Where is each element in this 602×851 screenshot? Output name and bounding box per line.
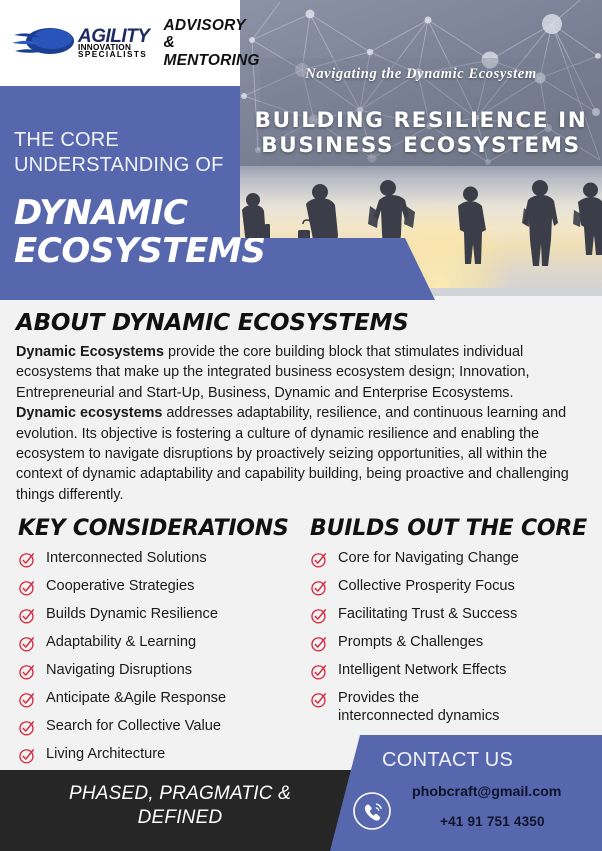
list-item-label: Adaptability & Learning xyxy=(46,634,196,650)
check-circle-icon xyxy=(310,691,328,709)
title-panel-title: DYNAMIC ECOSYSTEMS xyxy=(14,194,274,270)
list-item-label: Cooperative Strategies xyxy=(46,578,194,594)
list-item[interactable]: Navigating Disruptions xyxy=(18,662,302,681)
list-item[interactable]: Interconnected Solutions xyxy=(18,550,302,569)
check-circle-icon xyxy=(18,719,36,737)
check-circle-icon xyxy=(18,691,36,709)
list-item[interactable]: Builds Dynamic Resilience xyxy=(18,606,302,625)
list-item[interactable]: Facilitating Trust & Success xyxy=(310,606,602,625)
key-considerations-list: Interconnected Solutions Cooperative Str… xyxy=(18,550,302,765)
list-item[interactable]: Cooperative Strategies xyxy=(18,578,302,597)
check-circle-icon xyxy=(310,635,328,653)
hero-kicker: Navigating the Dynamic Ecosystem xyxy=(240,66,602,83)
list-item-label: Anticipate &Agile Response xyxy=(46,690,226,706)
phone-call-icon xyxy=(352,791,392,831)
list-item-label: Collective Prosperity Focus xyxy=(338,578,515,594)
logo-line3: SPECIALISTS xyxy=(78,51,149,59)
agility-swoosh-icon xyxy=(12,23,76,63)
brand-tagline: ADVISORY & MENTORING xyxy=(163,17,259,69)
list-item[interactable]: Provides the interconnected dynamics xyxy=(310,690,602,725)
about-body: Dynamic Ecosystems provide the core buil… xyxy=(16,342,586,505)
logo[interactable]: AGILITY INNOVATION SPECIALISTS ADVISORY … xyxy=(0,17,260,69)
hero-title: BUILDING RESILIENCE IN BUSINESS ECOSYSTE… xyxy=(240,108,602,159)
list-item[interactable]: Living Architecture xyxy=(18,746,302,765)
list-item-label: Provides the interconnected dynamics xyxy=(338,690,499,725)
check-circle-icon xyxy=(310,551,328,569)
about-section: ABOUT DYNAMIC ECOSYSTEMS Dynamic Ecosyst… xyxy=(0,302,602,505)
list-item-label: Navigating Disruptions xyxy=(46,662,192,678)
check-circle-icon xyxy=(18,635,36,653)
contact-email[interactable]: phobcraft@gmail.com xyxy=(412,784,561,800)
check-circle-icon xyxy=(18,747,36,765)
about-para1-lead: Dynamic Ecosystems xyxy=(16,344,164,360)
check-circle-icon xyxy=(18,607,36,625)
list-item[interactable]: Intelligent Network Effects xyxy=(310,662,602,681)
contact-panel: CONTACT US phobcraft@gmail.com +41 91 75… xyxy=(330,735,602,851)
list-item[interactable]: Search for Collective Value xyxy=(18,718,302,737)
list-item-label: Intelligent Network Effects xyxy=(338,662,506,678)
check-circle-icon xyxy=(310,579,328,597)
builds-out-core-heading: BUILDS OUT THE CORE xyxy=(310,516,602,541)
list-item[interactable]: Anticipate &Agile Response xyxy=(18,690,302,709)
list-item[interactable]: Prompts & Challenges xyxy=(310,634,602,653)
brand-header: AGILITY INNOVATION SPECIALISTS ADVISORY … xyxy=(0,0,240,86)
list-item[interactable]: Core for Navigating Change xyxy=(310,550,602,569)
list-item-label: Core for Navigating Change xyxy=(338,550,519,566)
footer-tagline: PHASED, PRAGMATIC & DEFINED xyxy=(30,782,330,830)
contact-title: CONTACT US xyxy=(382,749,513,772)
list-item-label: Interconnected Solutions xyxy=(46,550,207,566)
contact-phone[interactable]: +41 91 751 4350 xyxy=(440,814,545,829)
key-considerations-heading: KEY CONSIDERATIONS xyxy=(18,516,302,541)
list-item-label: Prompts & Challenges xyxy=(338,634,483,650)
check-circle-icon xyxy=(310,663,328,681)
check-circle-icon xyxy=(18,551,36,569)
list-item-label: Search for Collective Value xyxy=(46,718,221,734)
list-item-label: Living Architecture xyxy=(46,746,165,762)
about-para2-lead: Dynamic ecosystems xyxy=(16,405,162,421)
check-circle-icon xyxy=(18,663,36,681)
builds-out-core-list: Core for Navigating Change Collective Pr… xyxy=(310,550,602,725)
about-heading: ABOUT DYNAMIC ECOSYSTEMS xyxy=(16,310,586,336)
logo-wordmark: AGILITY INNOVATION SPECIALISTS xyxy=(78,27,149,59)
list-item[interactable]: Adaptability & Learning xyxy=(18,634,302,653)
list-item[interactable]: Collective Prosperity Focus xyxy=(310,578,602,597)
poster-canvas: Navigating the Dynamic Ecosystem BUILDIN… xyxy=(0,0,602,851)
check-circle-icon xyxy=(18,579,36,597)
check-circle-icon xyxy=(310,607,328,625)
list-item-label: Facilitating Trust & Success xyxy=(338,606,517,622)
title-panel-kicker: THE CORE UNDERSTANDING OF xyxy=(14,128,229,178)
list-item-label: Builds Dynamic Resilience xyxy=(46,606,218,622)
key-considerations-column: KEY CONSIDERATIONS Interconnected Soluti… xyxy=(0,516,302,774)
